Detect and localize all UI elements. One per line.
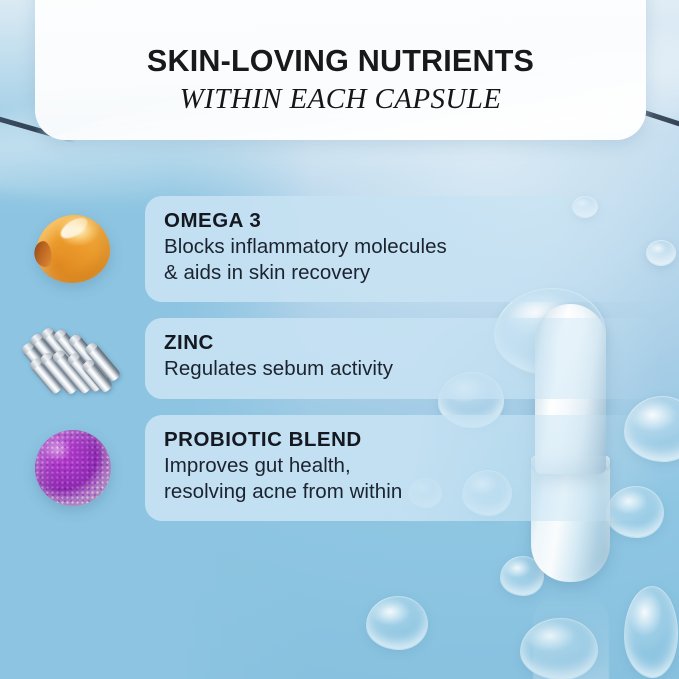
probiotic-texture <box>35 430 111 506</box>
list-item: OMEGA 3 Blocks inflammatory molecules & … <box>0 196 679 302</box>
benefit-description: Regulates sebum activity <box>164 356 642 382</box>
benefit-description: Improves gut health, resolving acne from… <box>164 453 642 505</box>
omega3-icon-slot <box>0 196 145 302</box>
benefit-card-zinc: ZINC Regulates sebum activity <box>145 318 660 398</box>
benefits-list: OMEGA 3 Blocks inflammatory molecules & … <box>0 196 679 537</box>
benefit-title: PROBIOTIC BLEND <box>164 429 642 452</box>
benefit-title: OMEGA 3 <box>164 210 642 233</box>
zinc-rods-icon <box>28 319 117 398</box>
benefit-card-omega3: OMEGA 3 Blocks inflammatory molecules & … <box>145 196 660 302</box>
header-card: SKIN-LOVING NUTRIENTS WITHIN EACH CAPSUL… <box>35 0 646 140</box>
probiotic-sphere-icon <box>35 430 111 506</box>
benefit-title: ZINC <box>164 332 642 355</box>
list-item: ZINC Regulates sebum activity <box>0 318 679 398</box>
benefit-card-probiotic: PROBIOTIC BLEND Improves gut health, res… <box>145 415 660 521</box>
infographic-stage: SKIN-LOVING NUTRIENTS WITHIN EACH CAPSUL… <box>0 0 679 679</box>
page-title: SKIN-LOVING NUTRIENTS <box>147 45 534 79</box>
omega3-softgel-icon <box>31 210 114 288</box>
list-item: PROBIOTIC BLEND Improves gut health, res… <box>0 415 679 521</box>
page-subtitle: WITHIN EACH CAPSULE <box>180 82 502 116</box>
benefit-description: Blocks inflammatory molecules & aids in … <box>164 234 642 286</box>
capsule-reflection <box>533 586 609 679</box>
probiotic-icon-slot <box>0 415 145 521</box>
water-droplet <box>624 586 678 678</box>
zinc-icon-slot <box>0 318 145 398</box>
water-droplet <box>366 596 428 650</box>
